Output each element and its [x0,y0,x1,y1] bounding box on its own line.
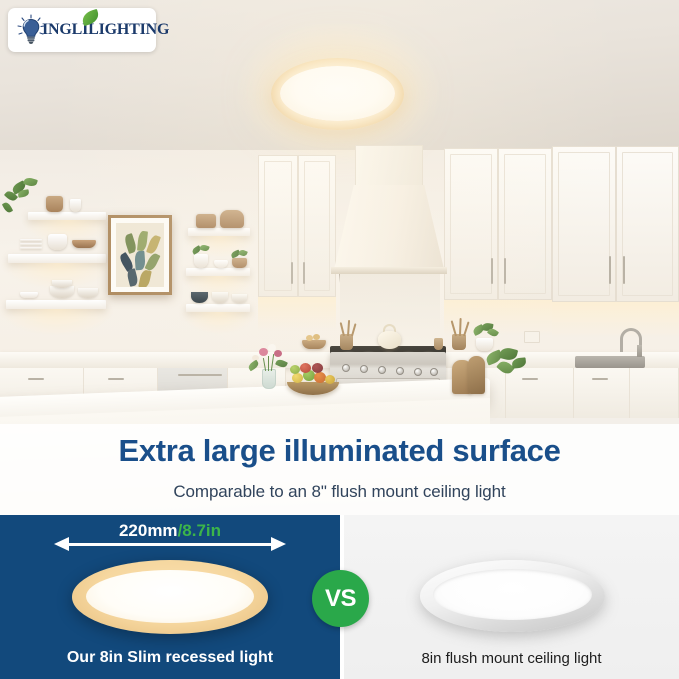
dimension-in: /8.7in [178,521,221,540]
utensil-crock [340,334,353,350]
base-cabinet [574,368,630,418]
faucet-base [637,345,642,357]
art-mat [111,218,169,292]
lightbulb-icon [14,13,48,47]
range-knob [414,368,422,376]
flower-stem [268,356,269,371]
planter [476,338,493,351]
cabinet-panel [622,152,673,296]
product-left-lens [86,570,254,623]
wood-bowl [220,210,244,228]
drawer-handle [28,378,44,380]
drawer-handle [592,378,608,380]
shelf [6,300,106,309]
plate [20,243,42,245]
range-knob [430,368,438,376]
dimension-label: 220mm/8.7in [0,521,340,541]
brand-name: INGLILIGHTING [42,21,169,39]
page-subtitle: Comparable to an 8" flush mount ceiling … [0,482,679,502]
base-cabinet [630,368,679,418]
planter [232,258,247,268]
plate [20,239,42,241]
wood-board [302,340,326,349]
product-flush-mount-light [420,560,605,632]
shelf [186,268,250,276]
fruit-lemon [325,375,335,384]
upper-cabinet [498,148,552,300]
cabinet-handle [491,258,493,284]
cabinet-handle [291,262,293,284]
cutting-board [468,356,485,394]
shelf [188,228,250,236]
range-knob [378,366,386,374]
art-leaf-icon [138,269,152,287]
pitcher [48,234,67,250]
dimension-bar [68,543,272,546]
brand-logo: INGLILIGHTING [8,8,156,52]
plate [20,247,42,249]
shelf [186,304,250,312]
planter [194,254,208,268]
bread [306,335,313,341]
vs-badge: VS [312,570,369,627]
range-hood-lip [331,267,447,274]
product-right-lens [433,569,592,620]
wood-box [196,214,216,228]
shelf [28,212,106,220]
product-marketing-image: Extra large illuminated surface Comparab… [0,0,679,679]
fruit-apple [300,363,311,373]
flower-vase [262,369,276,389]
fruit-plum [312,363,323,373]
cabinet-handle [623,256,625,284]
small-crock [434,338,443,350]
upper-cabinet [552,146,616,302]
range-hood-chimney [355,145,423,187]
product-slim-recessed-light [72,560,268,634]
bowl [20,292,38,298]
art-leaf-icon [126,268,139,287]
cabinet-handle [504,258,506,284]
drawer-handle [522,378,538,380]
caption-left: Our 8in Slim recessed light [0,649,340,667]
range-knob [360,365,368,373]
dishwasher-handle [178,374,222,376]
cabinet-handle [609,256,611,284]
wood-bowl [72,240,96,248]
flower [274,350,282,357]
upper-cabinet [616,146,679,302]
drawer-handle [108,378,124,380]
arrow-right-icon [271,537,286,551]
kettle [378,331,401,349]
range-knob [342,364,350,372]
fixture-lens [280,66,395,121]
art-leaf-icon [123,233,137,254]
fruit-apple [290,365,300,374]
dimension-mm: 220mm [119,521,178,540]
sink [575,356,645,368]
art-leaf-icon [146,234,161,255]
ceramic-jar [46,196,63,212]
page-title: Extra large illuminated surface [0,433,679,469]
fruit-lemon [292,373,303,383]
range-knob [396,367,404,375]
framed-botanical-art [108,215,172,295]
cabinet-panel [264,161,292,291]
caption-right: 8in flush mount ceiling light [344,650,679,667]
shelf [8,254,106,263]
arrow-left-icon [54,537,69,551]
cabinet-handle [303,262,305,284]
ceiling-light-fixture [271,58,404,130]
cabinet-panel [450,154,492,294]
cabinet-panel [504,154,546,294]
bread [313,334,320,340]
upper-cabinet [444,148,498,300]
cabinet-panel [304,161,330,291]
cabinet-panel [558,152,610,296]
art-canvas [116,223,164,287]
flower [259,348,268,356]
wall-outlet [524,331,540,343]
art-leaf-icon [145,252,161,272]
mug [70,199,81,212]
base-cabinet [506,368,574,418]
